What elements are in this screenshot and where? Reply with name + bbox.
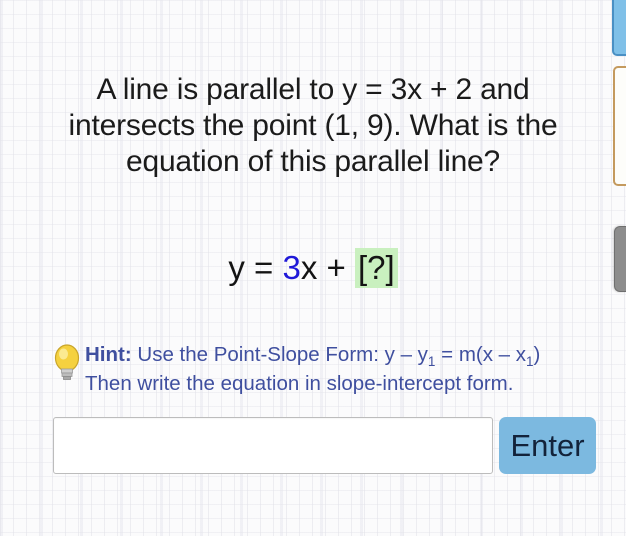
hint-line1-before: Use the Point-Slope Form: y – y [132, 343, 428, 366]
answer-row: Enter [53, 417, 596, 475]
lightbulb-icon [52, 343, 82, 383]
tan-panel-edge[interactable] [613, 66, 626, 186]
hint-line1-after: ) [534, 343, 541, 366]
equation-variable: x + [301, 249, 355, 286]
equation-display: y = 3x + [?] [0, 248, 626, 288]
hint-label: Hint: [85, 343, 132, 366]
answer-input[interactable] [53, 417, 493, 474]
enter-button[interactable]: Enter [499, 417, 596, 474]
hint-line2: Then write the equation in slope-interce… [85, 372, 513, 395]
exercise-page: A line is parallel to y = 3x + 2 and int… [0, 0, 626, 536]
blue-panel-edge[interactable] [612, 0, 626, 56]
hint-line1-sub2: 1 [526, 354, 534, 369]
equation-coefficient: 3 [282, 249, 300, 286]
hint-text: Hint: Use the Point-Slope Form: y – y1 =… [85, 340, 604, 398]
question-prompt: A line is parallel to y = 3x + 2 and int… [36, 72, 590, 180]
equation-lhs: y = [228, 249, 282, 286]
equation-blank[interactable]: [?] [355, 248, 398, 288]
hint-line1-middle: = m(x – x [435, 343, 526, 366]
